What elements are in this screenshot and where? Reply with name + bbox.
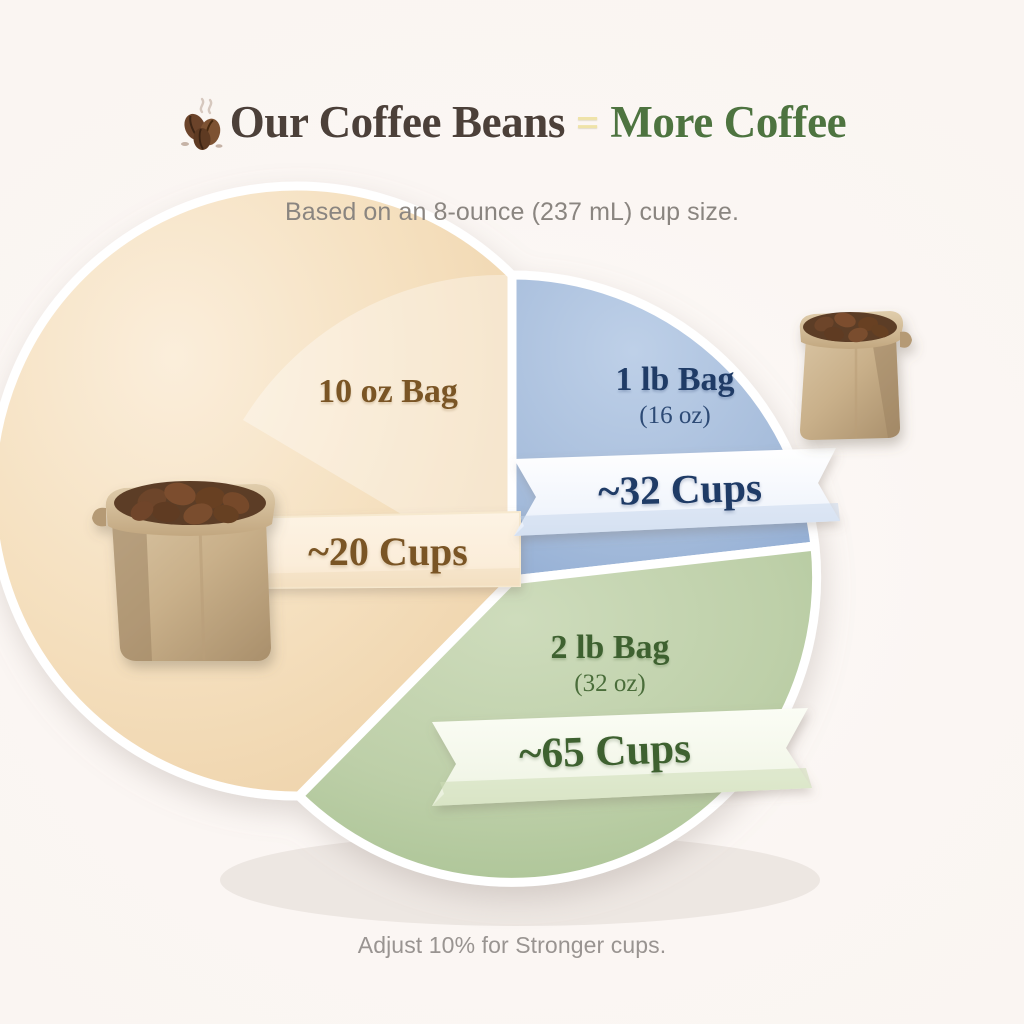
- pie-slice-1lb[interactable]: [512, 275, 815, 580]
- coffee-bag-right: [800, 310, 912, 440]
- title-accent-text: More Coffee: [610, 96, 846, 148]
- page-title: Our Coffee Beans = More Coffee: [178, 92, 846, 152]
- subtitle: Based on an 8-ounce (237 mL) cup size.: [0, 198, 1024, 227]
- coffee-bag-left: [92, 479, 275, 661]
- footnote: Adjust 10% for Stronger cups.: [0, 932, 1024, 959]
- title-equals-sign: =: [571, 98, 604, 146]
- header: Our Coffee Beans = More Coffee: [0, 92, 1024, 157]
- title-main-text: Our Coffee Beans: [230, 96, 565, 148]
- infographic-canvas: Our Coffee Beans = More Coffee Based on …: [0, 0, 1024, 1024]
- coffee-beans-icon: [178, 94, 230, 152]
